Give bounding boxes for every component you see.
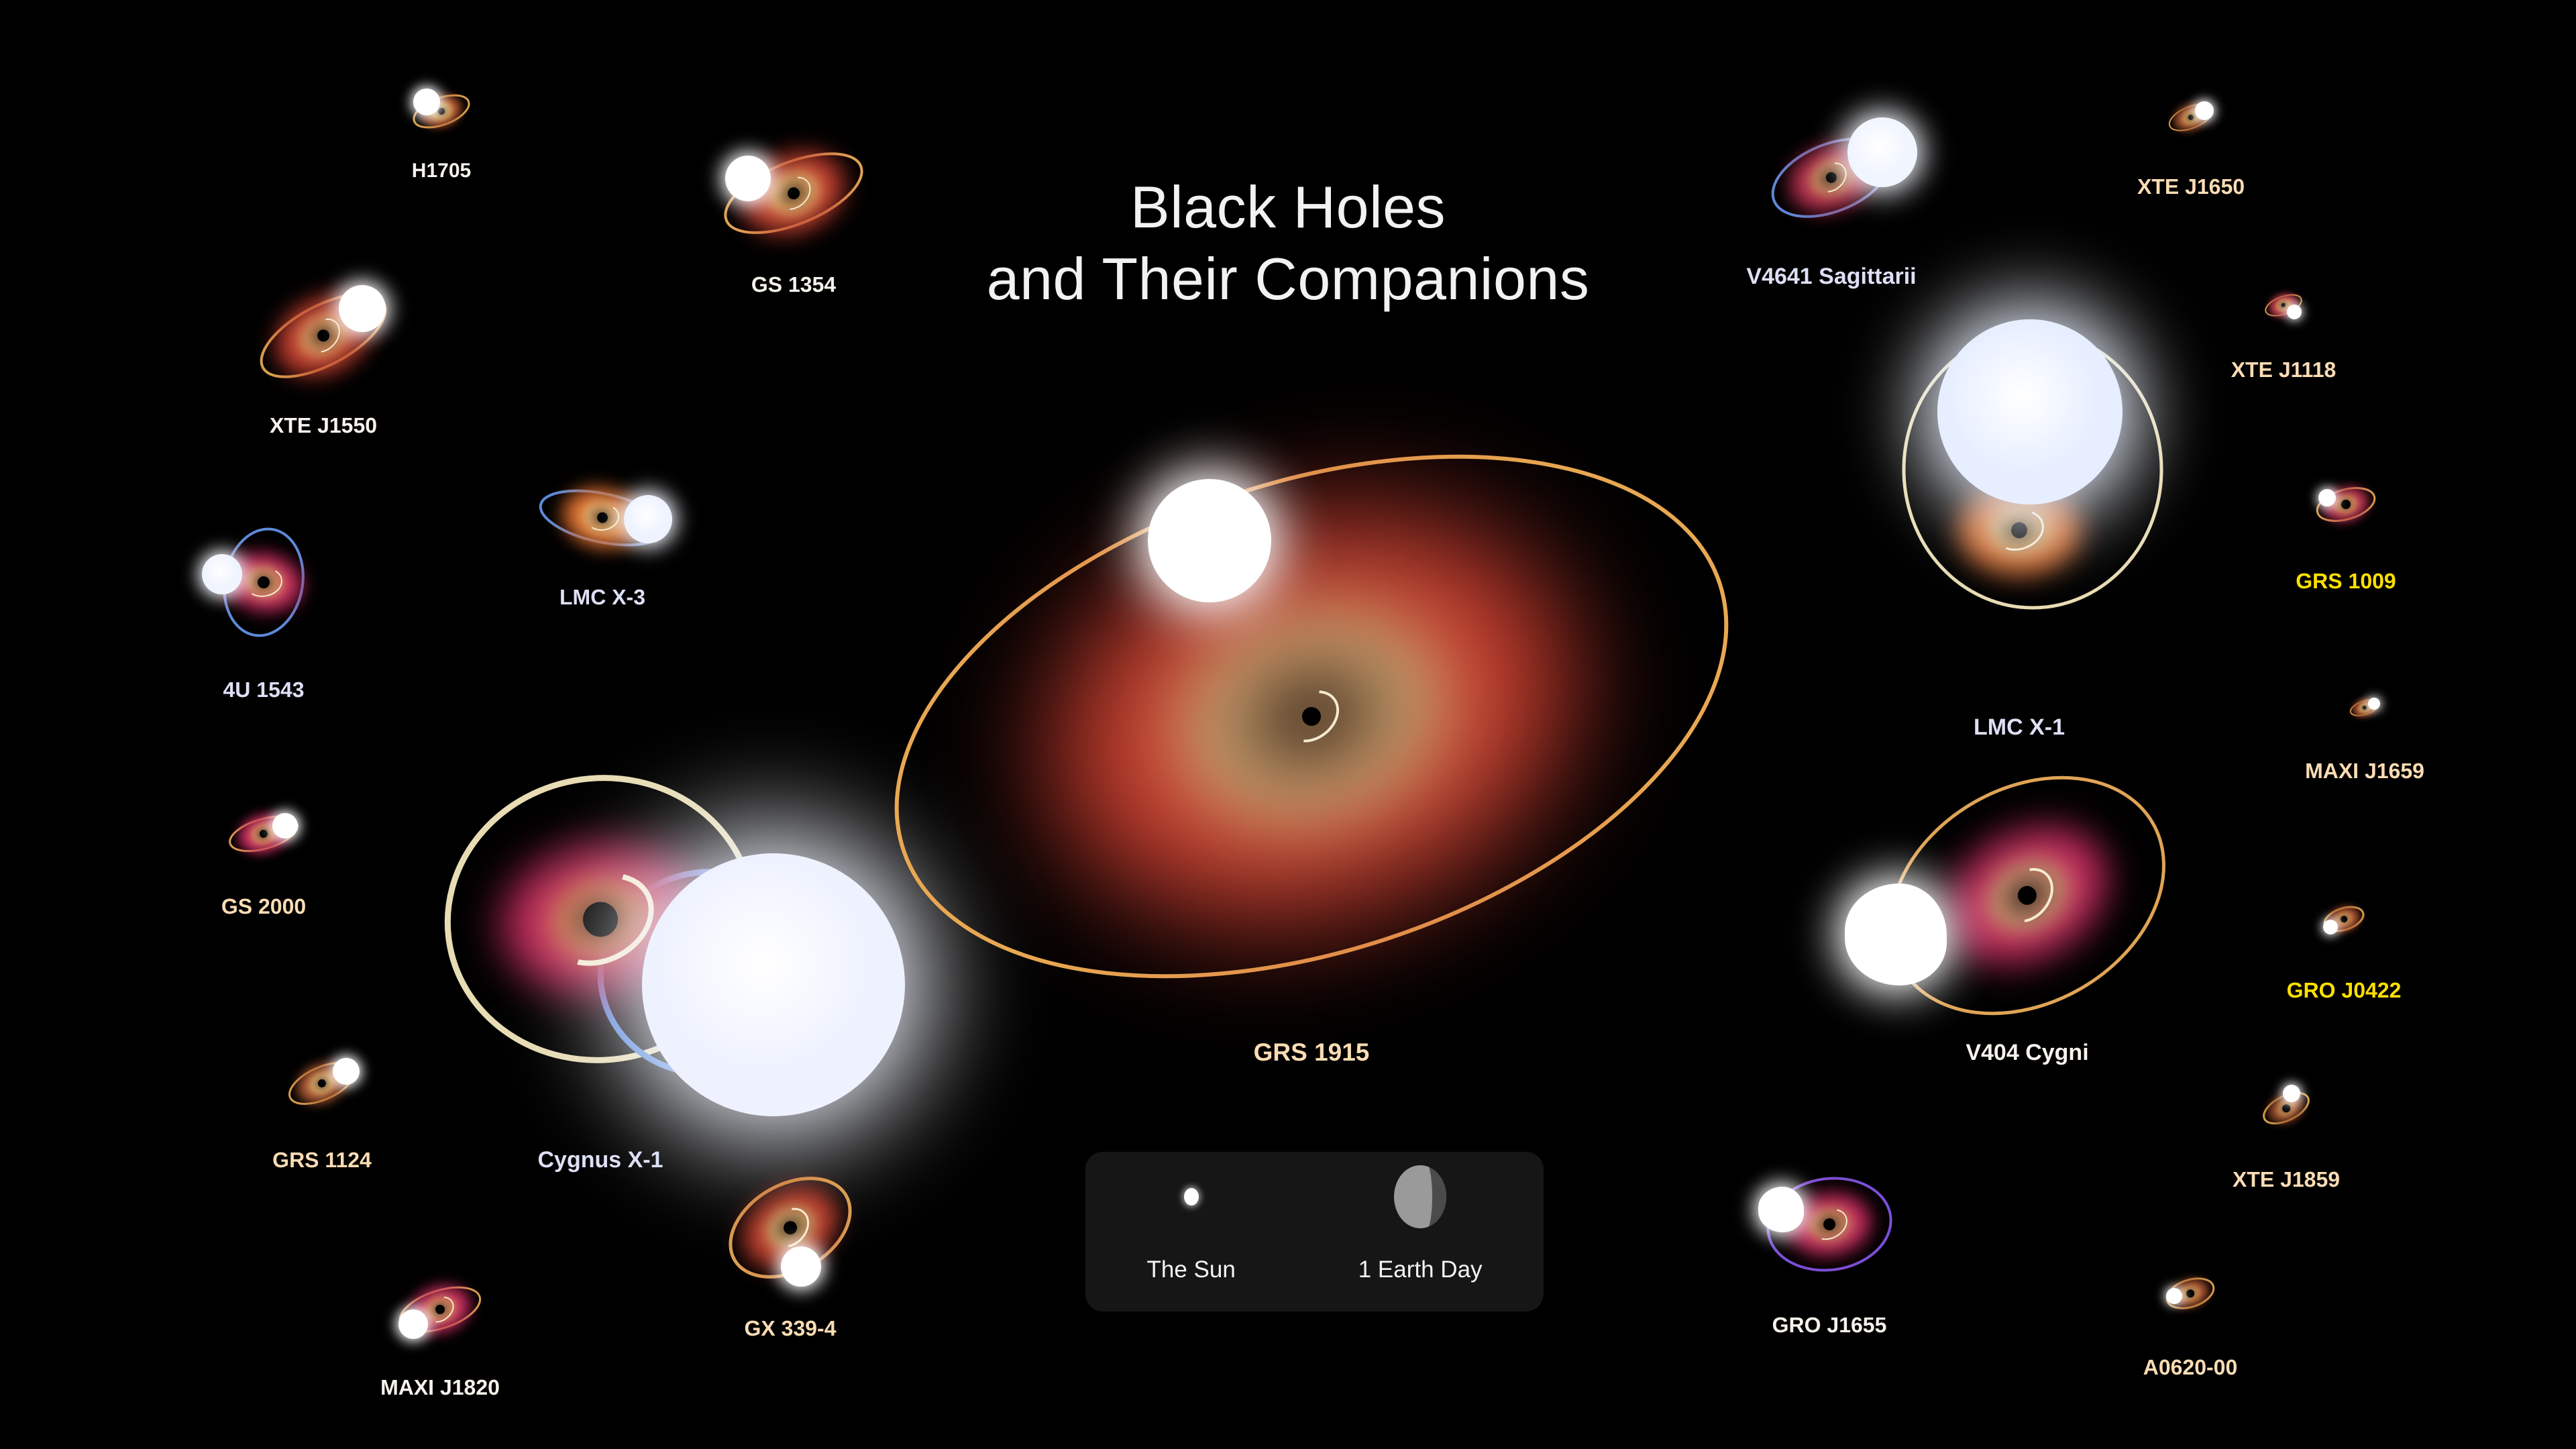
legend-earth-day-label: 1 Earth Day <box>1358 1256 1483 1283</box>
system-label-xtej1118: XTE J1118 <box>2231 358 2337 382</box>
infographic-canvas: Black Holes and Their Companions H1705GS… <box>0 0 2576 1449</box>
companion-star <box>272 813 298 839</box>
legend-item-earth-day: 1 Earth Day <box>1358 1152 1483 1311</box>
system-label-cygnusx1: Cygnus X-1 <box>537 1147 663 1173</box>
system-label-4u1543: 4U 1543 <box>223 678 305 702</box>
system-label-v4641sgr: V4641 Sagittarii <box>1746 264 1916 290</box>
page-title: Black Holes and Their Companions <box>987 171 1590 315</box>
system-label-gs2000: GS 2000 <box>221 894 306 919</box>
companion-star <box>1148 479 1271 602</box>
system-label-lmcx3: LMC X-3 <box>559 585 645 610</box>
system-label-xtej1650: XTE J1650 <box>2137 174 2245 199</box>
system-label-a062000: A0620-00 <box>2143 1355 2238 1380</box>
companion-star <box>2283 1085 2300 1102</box>
companion-star <box>1937 319 2123 504</box>
system-label-xtej1859: XTE J1859 <box>2233 1167 2340 1192</box>
system-label-grs1915: GRS 1915 <box>1254 1038 1370 1067</box>
companion-star <box>2195 101 2214 120</box>
companion-star <box>2368 698 2380 710</box>
half-lit-sphere-icon <box>1394 1152 1446 1242</box>
companion-star <box>202 554 242 594</box>
system-label-lmcx1: LMC X-1 <box>1974 714 2065 741</box>
companion-star <box>725 156 771 201</box>
scale-legend-panel: The Sun 1 Earth Day <box>1085 1152 1544 1311</box>
system-label-grs1124: GRS 1124 <box>272 1148 372 1173</box>
legend-sun-label: The Sun <box>1146 1256 1235 1283</box>
companion-star <box>2323 920 2338 934</box>
companion-star <box>781 1246 821 1287</box>
companion-star <box>2287 305 2302 319</box>
legend-item-sun: The Sun <box>1146 1152 1235 1311</box>
title-line-1: Black Holes <box>1130 174 1446 240</box>
companion-star <box>642 853 905 1116</box>
companion-star <box>2318 489 2336 506</box>
companion-star <box>1847 117 1917 187</box>
companion-star <box>1758 1187 1804 1232</box>
system-label-maxij1820: MAXI J1820 <box>380 1375 500 1400</box>
system-label-v404cygni: V404 Cygni <box>1966 1040 2088 1066</box>
sun-dot-icon <box>1184 1152 1199 1242</box>
companion-star <box>333 1058 360 1085</box>
system-label-gs1354: GS 1354 <box>751 272 836 297</box>
companion-star <box>398 1309 428 1339</box>
system-label-gx3394: GX 339-4 <box>745 1316 837 1341</box>
companion-star <box>339 285 386 332</box>
system-label-h1705: H1705 <box>412 160 471 182</box>
system-label-groj0422: GRO J0422 <box>2287 978 2402 1003</box>
companion-star <box>1845 883 1947 985</box>
system-label-xtej1550: XTE J1550 <box>270 413 377 438</box>
system-label-grs1009: GRS 1009 <box>2296 569 2396 594</box>
companion-star <box>413 89 440 115</box>
companion-star <box>2166 1288 2182 1304</box>
system-label-groj1655: GRO J1655 <box>1772 1313 1887 1338</box>
title-line-2: and Their Companions <box>987 243 1590 315</box>
companion-star <box>624 495 672 543</box>
system-label-maxij1659: MAXI J1659 <box>2305 759 2424 784</box>
